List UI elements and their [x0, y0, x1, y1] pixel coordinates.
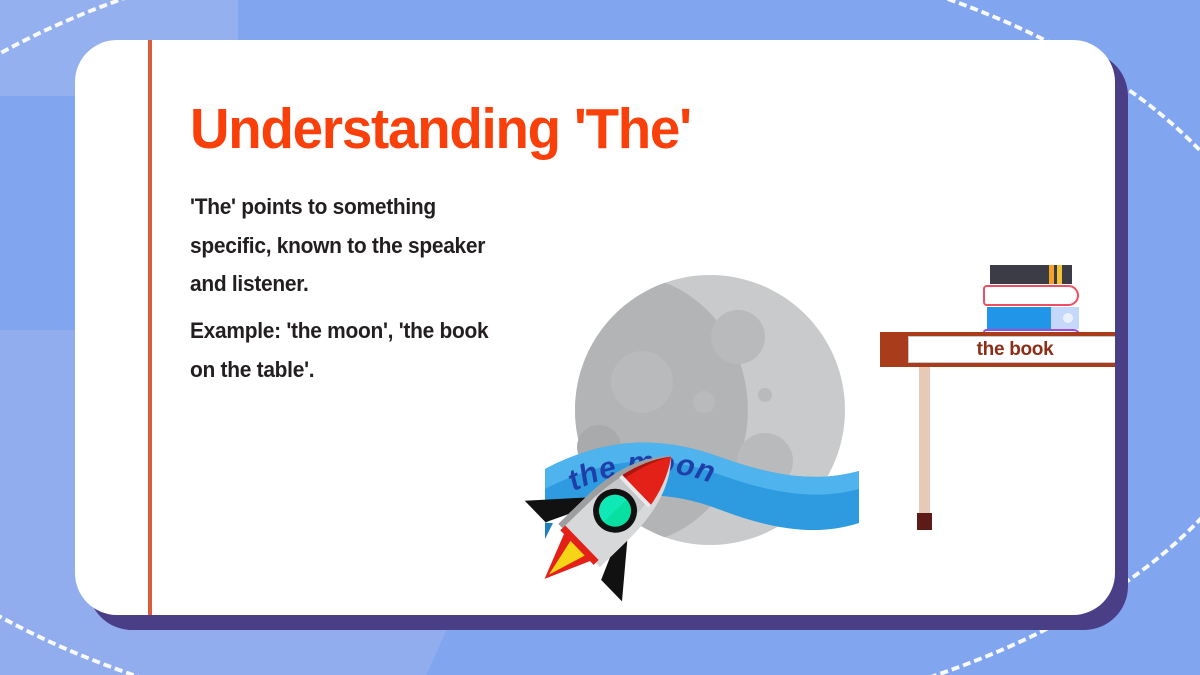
book-dark-stripe [1057, 265, 1062, 284]
text-column: Understanding 'The' 'The' points to some… [190, 100, 540, 389]
moon-crater-icon [611, 351, 673, 413]
book-blue-dot-icon [1063, 313, 1073, 323]
table-books-illustration: the book [855, 255, 1115, 530]
book-pink [983, 285, 1079, 306]
moon-crater-icon [693, 391, 715, 413]
table-label: the book [908, 335, 1115, 364]
body-paragraph-1: 'The' points to something specific, know… [190, 188, 497, 304]
accent-rule [148, 40, 152, 615]
moon-rocket-illustration: the moon [515, 255, 875, 615]
table-foot-left [917, 513, 932, 530]
page-title: Understanding 'The' [190, 100, 526, 160]
book-dark-stripe [1049, 265, 1054, 284]
rocket-icon [520, 420, 710, 610]
moon-crater-icon [711, 310, 765, 364]
body-paragraph-2: Example: 'the moon', 'the book on the ta… [190, 312, 497, 389]
table-leg-left [919, 367, 930, 530]
moon-crater-icon [758, 388, 772, 402]
slide-card: Understanding 'The' 'The' points to some… [75, 40, 1115, 615]
